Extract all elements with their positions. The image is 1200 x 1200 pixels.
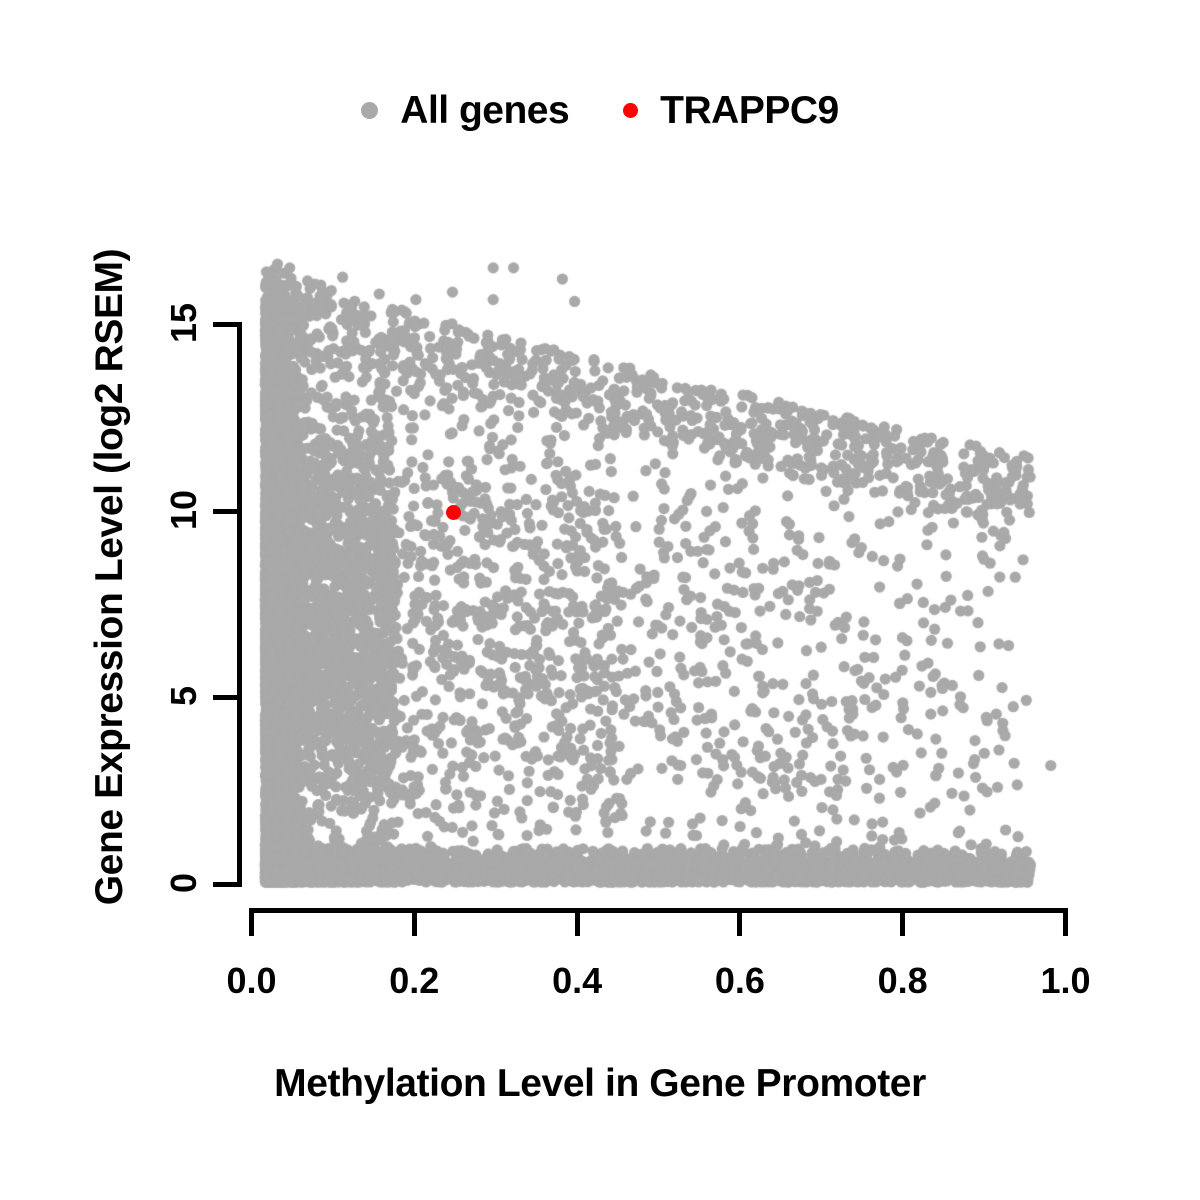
y-axis-tick-label: 5 [163, 651, 205, 741]
y-axis-tick-label: 0 [163, 838, 205, 928]
x-axis-line [249, 908, 1068, 913]
y-axis-tick [213, 322, 240, 327]
x-axis-tick [249, 908, 254, 936]
x-axis-tick-label: 0.6 [677, 960, 802, 1002]
trappc9-data-point [446, 505, 461, 520]
scatter-plot-figure: All genes TRAPPC9 0510150.00.20.40.60.81… [0, 0, 1200, 1200]
x-axis-tick-label: 0.4 [515, 960, 640, 1002]
x-axis-tick-label: 1.0 [1003, 960, 1128, 1002]
y-axis-tick [213, 882, 240, 887]
y-axis-tick [213, 695, 240, 700]
y-axis-tick [213, 509, 240, 514]
x-axis-tick [900, 908, 905, 936]
scatter-points-layer [0, 0, 1200, 1200]
x-axis-tick [575, 908, 580, 936]
y-axis-title: Gene Expression Level (log2 RSEM) [88, 77, 132, 1077]
y-axis-tick-label: 15 [163, 278, 205, 368]
y-axis-tick-label: 10 [163, 465, 205, 555]
x-axis-tick-label: 0.8 [840, 960, 965, 1002]
x-axis-title: Methylation Level in Gene Promoter [0, 1062, 1200, 1106]
y-axis-line [237, 322, 242, 887]
x-axis-tick [412, 908, 417, 936]
x-axis-tick-label: 0.0 [189, 960, 314, 1002]
x-axis-tick [737, 908, 742, 936]
x-axis-tick-label: 0.2 [352, 960, 477, 1002]
x-axis-tick [1063, 908, 1068, 936]
